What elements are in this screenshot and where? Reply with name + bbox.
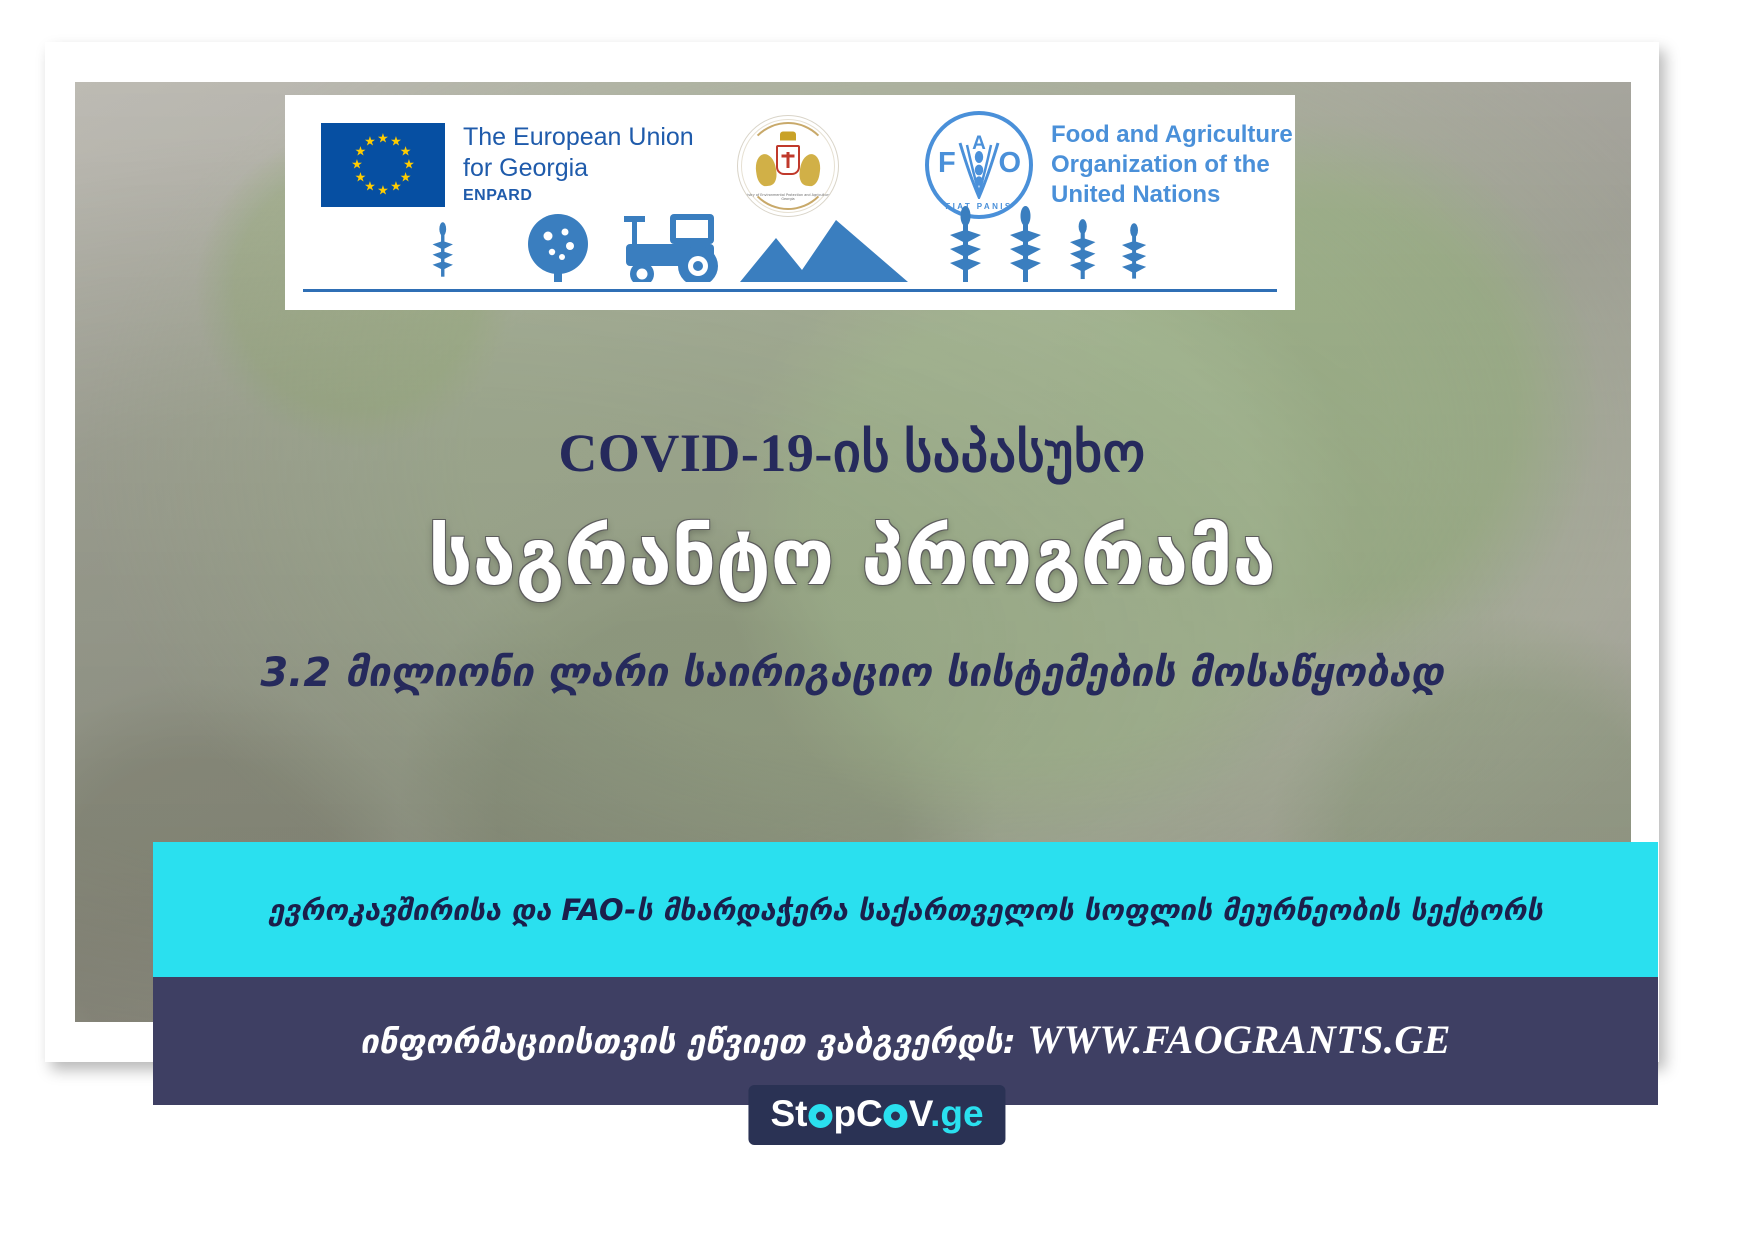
logo-bar-underline bbox=[303, 289, 1277, 292]
mountain-icon bbox=[740, 220, 908, 282]
seal-shield bbox=[776, 145, 800, 175]
georgia-ministry-seal-icon: Ministry of Environmental Protection and… bbox=[737, 115, 839, 217]
eu-logo-text: The European Union for Georgia ENPARD bbox=[463, 122, 694, 208]
tractor-icon bbox=[624, 214, 718, 282]
stopcov-part-1: St bbox=[770, 1093, 807, 1134]
website-banner-label: ინფორმაციისთვის ეწვიეთ ვაბგვერდს: bbox=[360, 1022, 1016, 1061]
fao-line-1: Food and Agriculture bbox=[1051, 120, 1293, 150]
fao-logo-text: Food and Agriculture Organization of the… bbox=[1051, 120, 1293, 210]
eu-flag-icon bbox=[321, 123, 445, 207]
website-banner-text: ინფორმაციისთვის ეწვიეთ ვაბგვერდს: WWW.FA… bbox=[336, 1019, 1475, 1063]
stopcov-badge[interactable]: StpCV.ge bbox=[748, 1085, 1005, 1145]
seal-crown bbox=[780, 132, 796, 141]
support-banner-text: ევროკავშირისა და FAO-ს მხარდაჭერა საქართ… bbox=[244, 891, 1567, 929]
stopcov-part-4: .ge bbox=[930, 1093, 983, 1134]
wheat-icon bbox=[1010, 206, 1041, 282]
wheat-icon bbox=[1070, 219, 1095, 279]
tree-icon bbox=[528, 214, 588, 282]
website-url[interactable]: WWW.FAOGRANTS.GE bbox=[1027, 1017, 1451, 1062]
seal-caption: Ministry of Environmental Protection and… bbox=[738, 193, 838, 202]
subheadline-amount: 3.2 მილიონი ლარი საირიგაციო სისტემების მ… bbox=[45, 647, 1659, 699]
stopcov-part-2: pC bbox=[833, 1093, 882, 1134]
stopcov-part-3: V bbox=[909, 1093, 930, 1134]
partner-logo-bar: The European Union for Georgia ENPARD Mi… bbox=[285, 95, 1295, 310]
fao-logo-block: F A O FIAT PANIS bbox=[925, 111, 1293, 219]
stopcov-o2-icon bbox=[884, 1104, 908, 1128]
fao-emblem-icon: F A O FIAT PANIS bbox=[925, 111, 1033, 219]
headline-covid: COVID-19-ის საპასუხო bbox=[45, 424, 1659, 482]
eu-logo-block: The European Union for Georgia ENPARD bbox=[321, 122, 694, 208]
eu-line-1: The European Union bbox=[463, 122, 694, 153]
fao-letter-f: F bbox=[938, 149, 956, 178]
slide-frame: The European Union for Georgia ENPARD Mi… bbox=[45, 42, 1659, 1062]
support-banner-cyan: ევროკავშირისა და FAO-ს მხარდაჭერა საქართ… bbox=[153, 842, 1658, 977]
logo-row: The European Union for Georgia ENPARD Mi… bbox=[285, 107, 1295, 222]
wheat-icon bbox=[433, 222, 453, 276]
headline-grant-program: საგრანტო პროგრამა bbox=[45, 512, 1659, 604]
wheat-icon bbox=[950, 206, 981, 282]
fao-line-2: Organization of the bbox=[1051, 150, 1293, 180]
agriculture-icon-strip bbox=[305, 206, 1275, 284]
fao-wheat-sheaf-icon bbox=[956, 141, 1002, 199]
wheat-icon bbox=[1122, 223, 1146, 278]
poster-page: The European Union for Georgia ENPARD Mi… bbox=[0, 0, 1754, 1256]
eu-enpard-label: ENPARD bbox=[463, 184, 694, 208]
stopcov-o-icon bbox=[808, 1104, 832, 1128]
eu-line-2: for Georgia bbox=[463, 153, 694, 184]
